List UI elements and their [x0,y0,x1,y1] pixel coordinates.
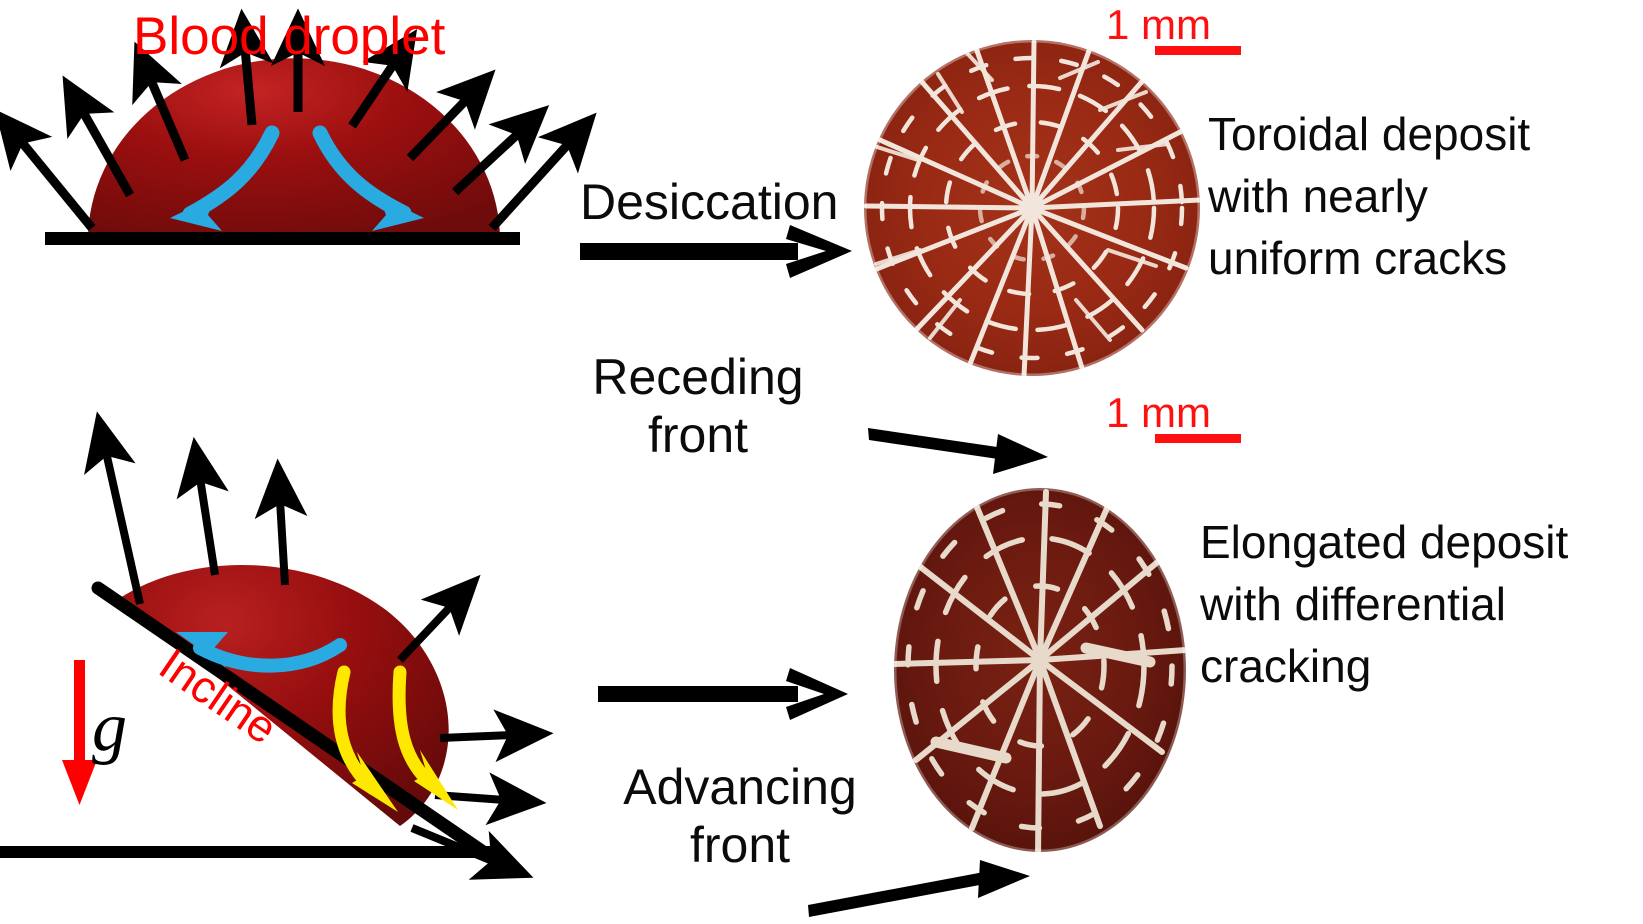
desiccation-label: Desiccation [580,175,838,229]
horizontal-substrate-line [45,232,520,245]
scale-label-top: 1 mm [1106,2,1211,47]
elongated-result-line1: Elongated deposit [1200,518,1568,568]
advancing-front-arrow-main [598,668,848,720]
elongated-result-line2: with differential [1200,580,1506,630]
toroidal-result-line3: uniform cracks [1208,234,1507,284]
toroidal-result-line2: with nearly [1208,172,1428,222]
receding-front-label-line2: front [563,408,833,462]
gravity-label: g [92,690,127,766]
horizontal-droplet-group [20,48,570,245]
scale-label-bottom: 1 mm [1106,390,1211,435]
toroidal-deposit-image [864,40,1200,376]
blood-droplet-label: Blood droplet [133,8,445,65]
toroidal-result-line1: Toroidal deposit [1208,110,1530,160]
ground-line [0,846,500,858]
inclined-droplet-group [0,452,512,862]
elongated-deposit-image [892,488,1186,856]
figure-canvas: Blood droplet Desiccation Receding front… [0,0,1643,924]
advancing-front-label-line1: Advancing [600,760,880,814]
receding-front-label-line1: Receding [563,350,833,404]
receding-front-arrow [868,428,1048,474]
advancing-front-label-line2: front [600,818,880,872]
desiccation-arrow [580,225,852,278]
elongated-result-line3: cracking [1200,642,1371,692]
